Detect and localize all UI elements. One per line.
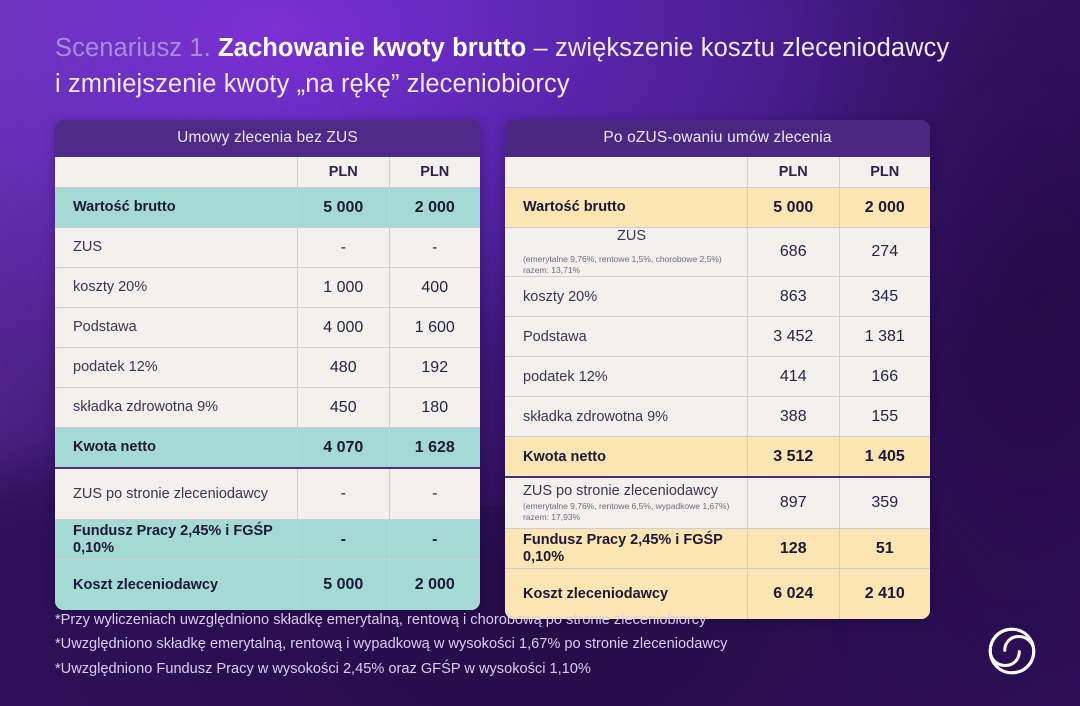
row-value-col1: 388 [748, 397, 840, 436]
row-label-cell: Podstawa [505, 317, 748, 356]
row-label-cell: składka zdrowotna 9% [505, 397, 748, 436]
row-label: Podstawa [73, 319, 290, 336]
row-value-col2: - [390, 520, 481, 559]
table-row: Wartość brutto5 0002 000 [55, 188, 480, 228]
row-value-col2: 180 [390, 388, 481, 427]
table-row: podatek 12%480192 [55, 348, 480, 388]
row-value-col2: 2 000 [390, 560, 481, 610]
row-label-cell: składka zdrowotna 9% [55, 388, 298, 427]
row-label-cell: Fundusz Pracy 2,45% i FGŚP 0,10% [505, 529, 748, 568]
row-value-col1: 897 [748, 478, 840, 528]
row-value-col2: 2 000 [840, 188, 931, 227]
row-value-col2: 192 [390, 348, 481, 387]
row-value-col1: 3 452 [748, 317, 840, 356]
table-row: ZUS po stronie zleceniodawcy-- [55, 469, 480, 520]
row-value-col1: 5 000 [298, 188, 390, 227]
row-label-cell: podatek 12% [505, 357, 748, 396]
units-label-cell [55, 157, 298, 187]
table-row: Fundusz Pracy 2,45% i FGŚP 0,10%12851 [505, 529, 930, 569]
table-units-row: PLNPLN [55, 157, 480, 188]
units-col1: PLN [748, 157, 840, 187]
row-value-col2: 51 [840, 529, 931, 568]
table-row: ZUS po stronie zleceniodawcy(emerytalne … [505, 478, 930, 529]
row-value-col1: 414 [748, 357, 840, 396]
row-label: składka zdrowotna 9% [523, 409, 740, 426]
row-label: ZUS [73, 239, 290, 256]
row-label: ZUS po stronie zleceniodawcy [523, 483, 740, 500]
row-label-cell: koszty 20% [55, 268, 298, 307]
row-label-cell: Wartość brutto [505, 188, 748, 227]
row-label: składka zdrowotna 9% [73, 399, 290, 416]
row-label-cell: ZUS po stronie zleceniodawcy [55, 469, 298, 519]
table-row: koszty 20%863345 [505, 277, 930, 317]
row-label-cell: koszty 20% [505, 277, 748, 316]
row-label-cell: ZUS po stronie zleceniodawcy(emerytalne … [505, 478, 748, 528]
footnote-line: *Przy wyliczeniach uwzględniono składkę … [55, 608, 935, 632]
row-label-cell: Fundusz Pracy 2,45% i FGŚP 0,10% [55, 520, 298, 559]
row-value-col1: 3 512 [748, 437, 840, 476]
table-umowy-bez-zus: Umowy zlecenia bez ZUS PLNPLNWartość bru… [55, 120, 480, 610]
row-value-col2: - [390, 228, 481, 267]
row-label: koszty 20% [73, 279, 290, 296]
row-label-cell: Podstawa [55, 308, 298, 347]
row-value-col2: 166 [840, 357, 931, 396]
table-row: składka zdrowotna 9%450180 [55, 388, 480, 428]
row-value-col2: 1 628 [390, 428, 481, 467]
row-value-col2: - [390, 469, 481, 519]
row-label: Wartość brutto [73, 199, 290, 216]
row-value-col2: 274 [840, 228, 931, 276]
table-units-row: PLNPLN [505, 157, 930, 188]
table-row: Kwota netto4 0701 628 [55, 428, 480, 469]
row-label: Koszt zleceniodawcy [73, 577, 290, 594]
row-label-cell: ZUS [55, 228, 298, 267]
table-row: podatek 12%414166 [505, 357, 930, 397]
footnote-line: *Uwzględniono Fundusz Pracy w wysokości … [55, 657, 935, 681]
row-value-col2: 400 [390, 268, 481, 307]
row-label-cell: Kwota netto [505, 437, 748, 476]
slide: Scenariusz 1. Zachowanie kwoty brutto – … [0, 0, 1080, 706]
row-label: ZUS [617, 228, 646, 245]
row-label: podatek 12% [523, 369, 740, 386]
row-value-col1: 1 000 [298, 268, 390, 307]
row-label-cell: ZUS(emerytalne 9,76%, rentowe 1,5%, chor… [505, 228, 748, 276]
row-label: Wartość brutto [523, 199, 740, 216]
row-label: podatek 12% [73, 359, 290, 376]
row-value-col2: 345 [840, 277, 931, 316]
row-label-cell: Wartość brutto [55, 188, 298, 227]
spiral-rosette-logo [979, 618, 1045, 684]
table-body: PLNPLNWartość brutto5 0002 000ZUS--koszt… [55, 157, 480, 610]
table-body: PLNPLNWartość brutto5 0002 000ZUS(emeryt… [505, 157, 930, 619]
table-row: Fundusz Pracy 2,45% i FGŚP 0,10%-- [55, 520, 480, 560]
row-value-col1: 128 [748, 529, 840, 568]
row-label-cell: podatek 12% [55, 348, 298, 387]
row-label: Kwota netto [523, 449, 740, 466]
row-label: Podstawa [523, 329, 740, 346]
table-row: Koszt zleceniodawcy5 0002 000 [55, 560, 480, 610]
row-label: Fundusz Pracy 2,45% i FGŚP 0,10% [73, 523, 290, 556]
row-value-col2: 1 405 [840, 437, 931, 476]
row-value-col1: 4 000 [298, 308, 390, 347]
row-label-cell: Koszt zleceniodawcy [55, 560, 298, 610]
row-value-col1: 4 070 [298, 428, 390, 467]
units-col1: PLN [298, 157, 390, 187]
table-row: Wartość brutto5 0002 000 [505, 188, 930, 228]
table-row: Podstawa4 0001 600 [55, 308, 480, 348]
row-value-col1: - [298, 469, 390, 519]
row-label: ZUS po stronie zleceniodawcy [73, 486, 290, 503]
row-value-col1: 863 [748, 277, 840, 316]
page-title: Scenariusz 1. Zachowanie kwoty brutto – … [55, 30, 955, 102]
headline-emphasis: Zachowanie kwoty brutto [218, 34, 526, 62]
row-value-col1: 450 [298, 388, 390, 427]
row-value-col2: 359 [840, 478, 931, 528]
table-row: ZUS-- [55, 228, 480, 268]
row-label: Koszt zleceniodawcy [523, 586, 740, 603]
units-col2: PLN [840, 157, 931, 187]
headline-scenario: Scenariusz 1. [55, 34, 211, 62]
row-label-note: (emerytalne 9,76%, rentowe 6,5%, wypadko… [523, 501, 740, 524]
table-row: Podstawa3 4521 381 [505, 317, 930, 357]
footnotes: *Przy wyliczeniach uwzględniono składkę … [55, 608, 935, 681]
row-value-col1: - [298, 228, 390, 267]
units-col2: PLN [390, 157, 481, 187]
row-value-col1: 686 [748, 228, 840, 276]
table-title: Po oZUS-owaniu umów zlecenia [505, 120, 930, 157]
row-value-col1: 5 000 [298, 560, 390, 610]
row-value-col2: 155 [840, 397, 931, 436]
table-po-ozus-owaniu: Po oZUS-owaniu umów zlecenia PLNPLNWarto… [505, 120, 930, 619]
row-value-col1: 5 000 [748, 188, 840, 227]
table-row: ZUS(emerytalne 9,76%, rentowe 1,5%, chor… [505, 228, 930, 277]
row-value-col1: 480 [298, 348, 390, 387]
table-title: Umowy zlecenia bez ZUS [55, 120, 480, 157]
row-value-col2: 2 000 [390, 188, 481, 227]
table-row: koszty 20%1 000400 [55, 268, 480, 308]
table-row: składka zdrowotna 9%388155 [505, 397, 930, 437]
row-label-cell: Kwota netto [55, 428, 298, 467]
row-value-col1: - [298, 520, 390, 559]
row-label: koszty 20% [523, 289, 740, 306]
row-label: Kwota netto [73, 439, 290, 456]
row-value-col2: 1 600 [390, 308, 481, 347]
row-label: Fundusz Pracy 2,45% i FGŚP 0,10% [523, 532, 740, 565]
table-row: Kwota netto3 5121 405 [505, 437, 930, 478]
units-label-cell [505, 157, 748, 187]
row-label-note: (emerytalne 9,76%, rentowe 1,5%, chorobo… [523, 254, 740, 277]
footnote-line: *Uwzględniono składkę emerytalną, rentow… [55, 632, 935, 656]
row-value-col2: 1 381 [840, 317, 931, 356]
